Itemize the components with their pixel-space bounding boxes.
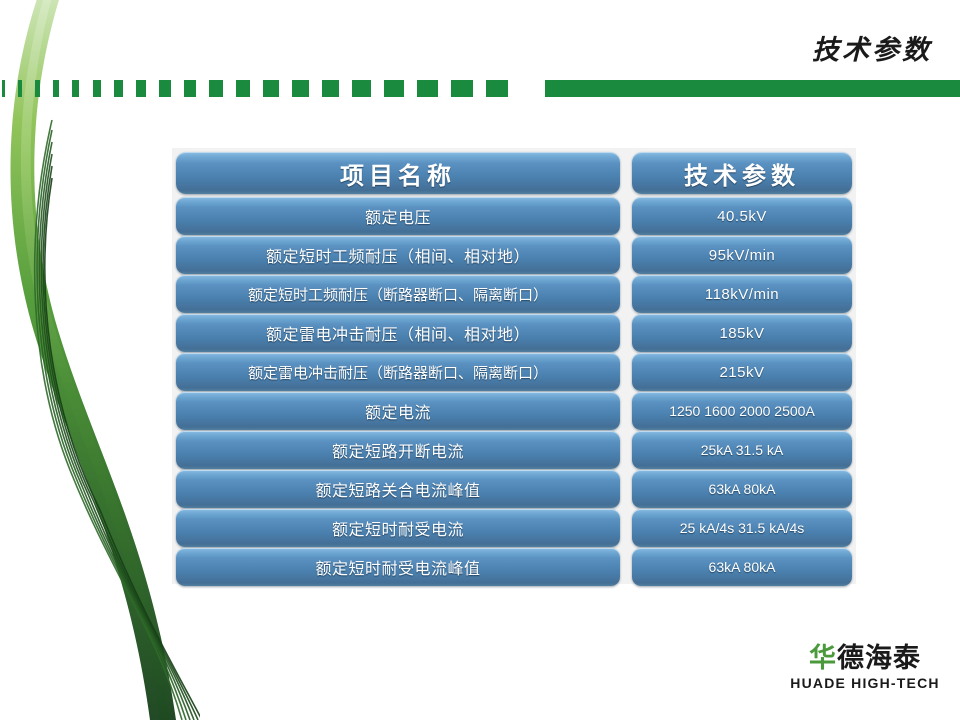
divider-dash [2,80,5,97]
table-cell-name: 额定雷电冲击耐压（断路器断口、隔离断口） [176,353,620,391]
table-cell-name: 额定短路开断电流 [176,431,620,469]
logo-char-hua: 华 [809,643,837,673]
divider-solid-segment [545,80,960,97]
divider-dash [136,80,146,97]
table-cell-value: 118kV/min [632,275,852,313]
table-row: 额定短时耐受电流25 kA/4s 31.5 kA/4s [176,509,852,547]
logo-english-name: HUADE HIGH-TECH [780,675,950,691]
table-row: 额定电压40.5kV [176,197,852,235]
table-cell-value: 185kV [632,314,852,352]
table-cell-name: 额定短时工频耐压（相间、相对地） [176,236,620,274]
table-cell-value: 215kV [632,353,852,391]
divider-dash [93,80,101,97]
divider-dash [236,80,251,97]
divider-dash [184,80,196,97]
table-row: 额定短时工频耐压（断路器断口、隔离断口）118kV/min [176,275,852,313]
page-title: 技术参数 [812,28,932,67]
table-cell-value: 63kA 80kA [632,470,852,508]
table-row: 额定短路关合电流峰值63kA 80kA [176,470,852,508]
logo-chinese-name: 华德海泰 [780,644,950,672]
table-cell-name: 额定电流 [176,392,620,430]
table-row: 额定短时工频耐压（相间、相对地）95kV/min [176,236,852,274]
table-header-row: 项目名称 技术参数 [176,152,852,194]
divider-dash [159,80,170,97]
table-cell-name: 额定短路关合电流峰值 [176,470,620,508]
table-cell-value: 95kV/min [632,236,852,274]
divider-dash [451,80,473,97]
divider-dash [292,80,309,97]
table-cell-value: 63kA 80kA [632,548,852,586]
divider-dash [352,80,371,97]
spec-table: 项目名称 技术参数 额定电压40.5kV额定短时工频耐压（相间、相对地）95kV… [176,152,852,587]
divider-dash [209,80,223,97]
logo-chars-rest: 德海泰 [837,643,921,673]
table-row: 额定短时耐受电流峰值63kA 80kA [176,548,852,586]
table-row: 额定电流1250 1600 2000 2500A [176,392,852,430]
table-cell-name: 额定短时耐受电流峰值 [176,548,620,586]
table-cell-value: 40.5kV [632,197,852,235]
table-cell-name: 额定短时耐受电流 [176,509,620,547]
company-logo: 华德海泰 HUADE HIGH-TECH [780,644,950,691]
divider-dash [53,80,59,97]
slide-canvas: 技术参数 项目名称 技术参数 额定电压40.5kV额定短时工频耐压（相间、相对地… [0,0,960,720]
decorative-swoosh [0,0,200,720]
divider-dash [18,80,22,97]
table-cell-name: 额定短时工频耐压（断路器断口、隔离断口） [176,275,620,313]
table-cell-name: 额定电压 [176,197,620,235]
table-cell-value: 25 kA/4s 31.5 kA/4s [632,509,852,547]
table-row: 额定短路开断电流25kA 31.5 kA [176,431,852,469]
table-header-value: 技术参数 [632,152,852,194]
dashed-divider-bar [0,80,960,97]
table-cell-name: 额定雷电冲击耐压（相间、相对地） [176,314,620,352]
table-header-name: 项目名称 [176,152,620,194]
divider-dash [35,80,40,97]
divider-dash [72,80,79,97]
table-cell-value: 25kA 31.5 kA [632,431,852,469]
divider-dash [322,80,340,97]
table-row: 额定雷电冲击耐压（断路器断口、隔离断口）215kV [176,353,852,391]
table-cell-value: 1250 1600 2000 2500A [632,392,852,430]
divider-dash [417,80,438,97]
divider-dash [114,80,123,97]
divider-dash [263,80,279,97]
table-row: 额定雷电冲击耐压（相间、相对地）185kV [176,314,852,352]
divider-dash [486,80,509,97]
divider-dash [384,80,404,97]
table-body: 额定电压40.5kV额定短时工频耐压（相间、相对地）95kV/min额定短时工频… [176,197,852,586]
